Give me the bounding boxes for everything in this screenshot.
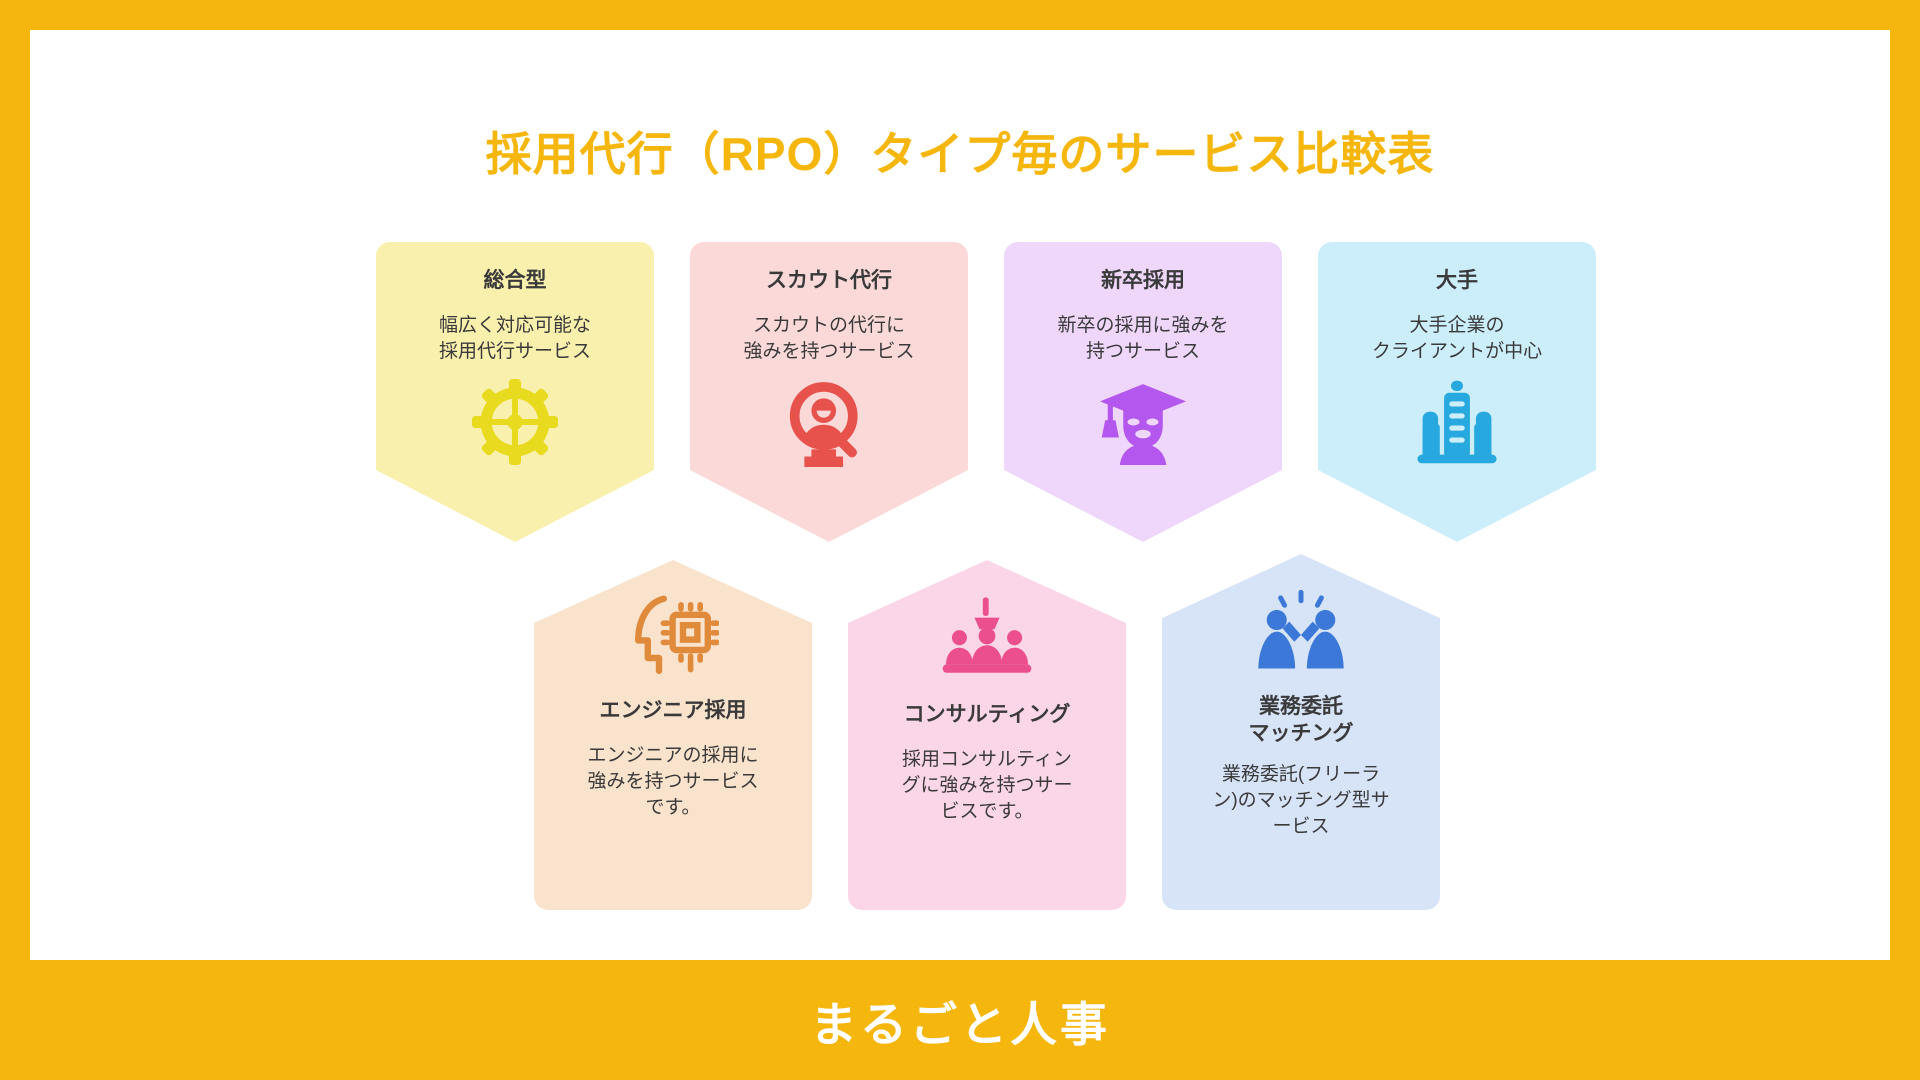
gear-wheel-icon [472,379,558,465]
handshake-people-icon [1255,588,1347,672]
office-buildings-icon [1414,379,1500,465]
card-title: スカウト代行 [766,268,892,295]
card-description: 採用コンサルティン グに強みを持つサー ビスです。 [901,747,1072,826]
card-sogo-gata[interactable]: 総合型 幅広く対応可能な 採用代行サービス [376,242,654,542]
card-description: スカウトの代行に 強みを持つサービス [743,313,914,365]
card-ote[interactable]: 大手 大手企業の クライアントが中心 [1318,242,1596,542]
graduate-icon [1095,379,1191,465]
person-search-icon [785,379,873,467]
card-description: エンジニアの採用に 強みを持つサービス です。 [587,743,758,822]
card-title: 業務委託 マッチング [1249,694,1354,748]
card-description: 新卒の採用に強みを 持つサービス [1057,313,1228,365]
card-title: エンジニア採用 [600,698,747,725]
engineer-chip-icon [627,594,719,674]
brand-name: まるごと人事 [810,986,1110,1055]
card-consulting[interactable]: コンサルティング 採用コンサルティン グに強みを持つサー ビスです。 [848,560,1126,910]
card-gyomu-itaku-matching[interactable]: 業務委託 マッチング 業務委託(フリーラ ン)のマッチング型サ ービス [1162,554,1440,910]
slide-canvas: 採用代行（RPO）タイプ毎のサービス比較表 総合型 幅広く対応可能な 採用代行サ… [30,30,1890,960]
page-title: 採用代行（RPO）タイプ毎のサービス比較表 [30,118,1890,184]
card-engineer-saiyo[interactable]: エンジニア採用 エンジニアの採用に 強みを持つサービス です。 [534,560,812,910]
card-description: 業務委託(フリーラ ン)のマッチング型サ ービス [1212,762,1389,841]
card-title: コンサルティング [904,702,1071,729]
card-title: 新卒採用 [1101,268,1185,295]
card-description: 大手企業の クライアントが中心 [1372,313,1542,365]
card-title: 総合型 [484,268,547,295]
card-shinsotsu-saiyo[interactable]: 新卒採用 新卒の採用に強みを 持つサービス [1004,242,1282,542]
footer-bar: まるごと人事 [0,960,1920,1080]
card-scout-daiko[interactable]: スカウト代行 スカウトの代行に 強みを持つサービス [690,242,968,542]
slide-root: 採用代行（RPO）タイプ毎のサービス比較表 総合型 幅広く対応可能な 採用代行サ… [0,0,1920,1080]
card-title: 大手 [1436,268,1478,295]
consulting-meeting-icon [941,594,1033,678]
card-description: 幅広く対応可能な 採用代行サービス [439,313,591,365]
